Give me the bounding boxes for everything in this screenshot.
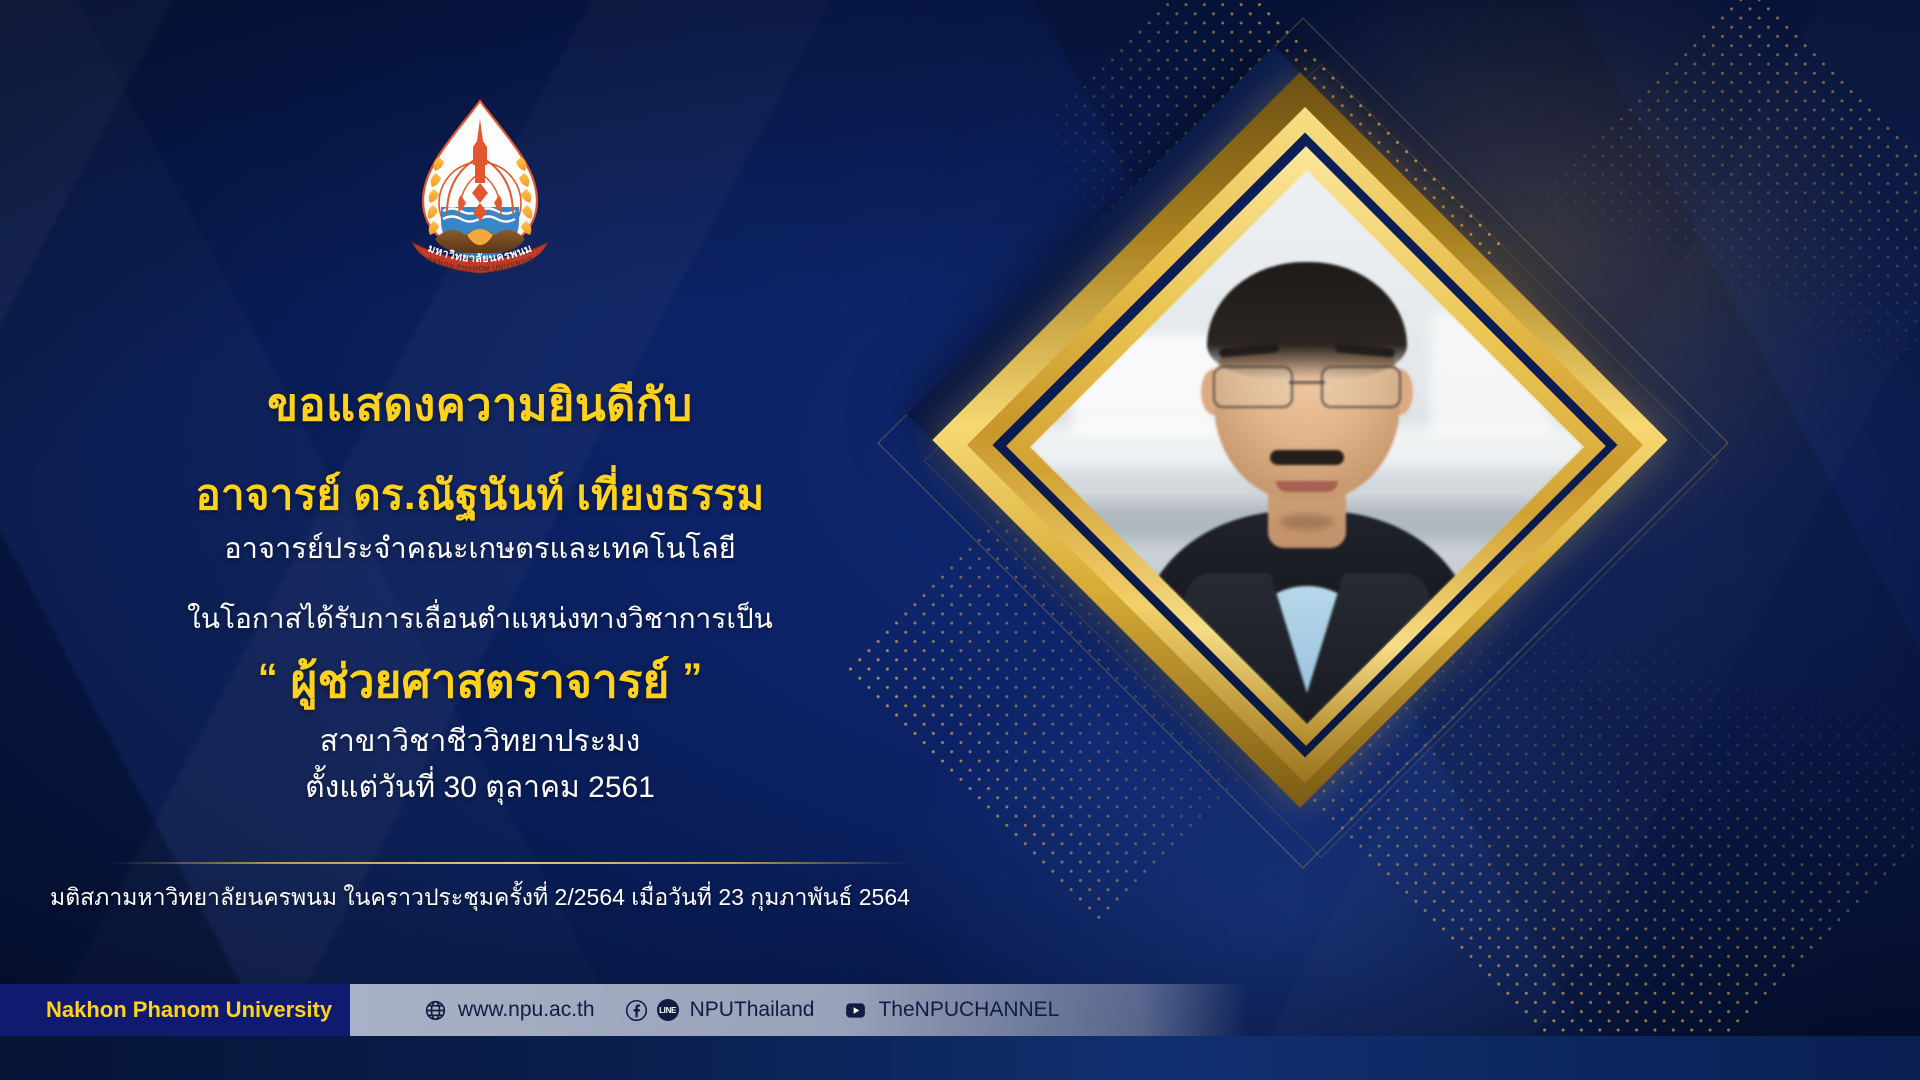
youtube-icon bbox=[844, 999, 867, 1022]
footer-youtube-label: TheNPUCHANNEL bbox=[878, 998, 1059, 1022]
footer-social-item[interactable]: LINE NPUThailand bbox=[625, 998, 815, 1022]
effective-date: ตั้งแต่วันที่ 30 ตุลาคม 2561 bbox=[0, 764, 960, 811]
message-column: มหาวิทยาลัยนครพนม NAKHON PHANOM UNIVERSI… bbox=[0, 0, 960, 1080]
honoree-name: อาจารย์ ดร.ณัฐนันท์ เที่ยงธรรม bbox=[0, 462, 960, 528]
footer-bar: Nakhon Phanom University www.npu.ac.th bbox=[0, 984, 1248, 1036]
footer-youtube-item[interactable]: TheNPUCHANNEL bbox=[844, 998, 1059, 1022]
academic-position-title: “ ผู้ช่วยศาสตราจารย์ ” bbox=[0, 645, 960, 718]
footer-brand-block: Nakhon Phanom University bbox=[0, 984, 376, 1036]
banner-canvas: มหาวิทยาลัยนครพนม NAKHON PHANOM UNIVERSI… bbox=[0, 0, 1920, 1080]
line-icon: LINE bbox=[657, 999, 679, 1021]
position-title-text: ผู้ช่วยศาสตราจารย์ bbox=[291, 655, 670, 707]
footer-links-block: www.npu.ac.th LINE NPUThailand bbox=[350, 984, 1248, 1036]
portrait-frame bbox=[980, 120, 1700, 840]
nakhon-phanom-university-logo-icon: มหาวิทยาลัยนครพนม NAKHON PHANOM UNIVERSI… bbox=[395, 95, 565, 280]
bottom-navy-strip bbox=[0, 1036, 1920, 1080]
promotion-occasion-text: ในโอกาสได้รับการเลื่อนตำแหน่งทางวิชาการเ… bbox=[0, 597, 960, 641]
academic-field: สาขาวิชาชีววิทยาประมง bbox=[0, 718, 960, 765]
footer-website-label: www.npu.ac.th bbox=[458, 998, 595, 1022]
quote-open: “ bbox=[258, 656, 278, 700]
line-icon-glyph: LINE bbox=[657, 999, 679, 1021]
gold-divider bbox=[110, 862, 910, 864]
footer-brand-label: Nakhon Phanom University bbox=[0, 997, 332, 1023]
footer-social-handle: NPUThailand bbox=[690, 998, 815, 1022]
honoree-department: อาจารย์ประจำคณะเกษตรและเทคโนโลยี bbox=[0, 525, 960, 571]
congratulations-headline: ขอแสดงความยินดีกับ bbox=[0, 368, 960, 440]
footer-website-item[interactable]: www.npu.ac.th bbox=[424, 998, 595, 1022]
council-resolution-note: มติสภามหาวิทยาลัยนครพนม ในคราวประชุมครั้… bbox=[0, 880, 960, 916]
facebook-icon bbox=[625, 999, 648, 1022]
quote-close: ” bbox=[682, 656, 702, 700]
globe-icon bbox=[424, 999, 447, 1022]
